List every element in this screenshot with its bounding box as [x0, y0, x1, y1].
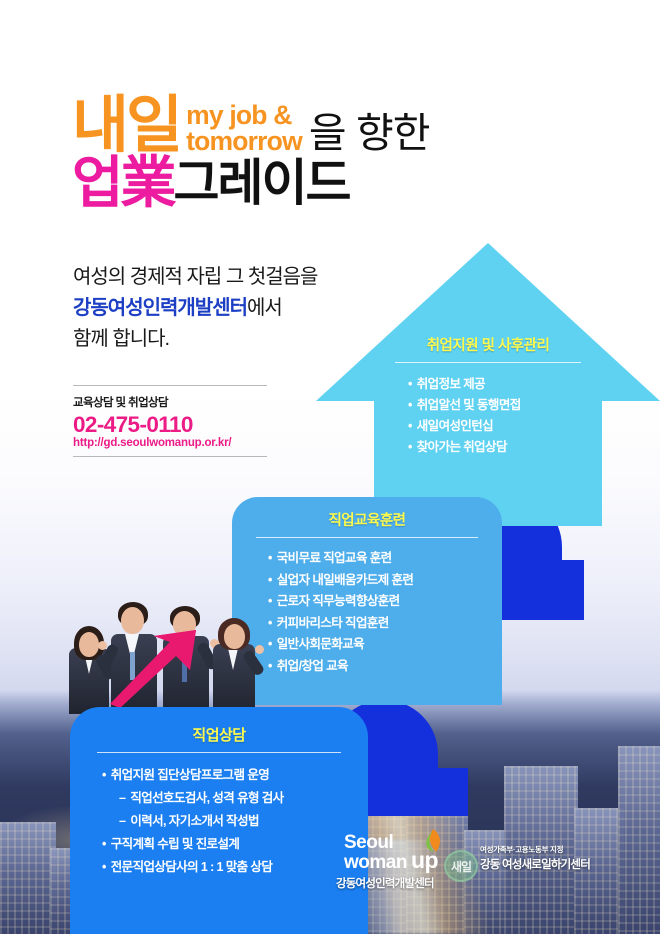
- person-hand: [255, 645, 264, 654]
- panel-divider: [256, 537, 478, 538]
- list-item-label: 커피바리스타 직업훈련: [277, 613, 389, 635]
- list-item: •구직계획 수립 및 진로설계: [102, 833, 368, 856]
- list-item-label: 취업/창업 교육: [277, 656, 348, 678]
- list-item: •커피바리스타 직업훈련: [268, 613, 502, 635]
- bullet-icon: •: [268, 634, 272, 656]
- contact-divider-bottom: [73, 456, 267, 457]
- list-item-label: 근로자 직무능력향상훈련: [277, 591, 400, 613]
- subtitle-center-name: 강동여성인력개발센터: [73, 297, 247, 319]
- list-item: •국비무료 직업교육 훈련: [268, 548, 502, 570]
- accent-shape-bottom-tail: [420, 768, 468, 816]
- contact-website-url[interactable]: http://gd.seoulwomanup.or.kr/: [73, 437, 267, 449]
- contact-phone-number[interactable]: 02-475-0110: [73, 412, 267, 437]
- list-item-label: 실업자 내일배움카드제 훈련: [277, 570, 414, 592]
- bullet-icon: •: [102, 764, 106, 787]
- bullet-icon: •: [408, 395, 412, 416]
- headline-word-up-ko: 업: [72, 152, 121, 214]
- list-item-label: 이력서, 자기소개서 작성법: [130, 810, 259, 833]
- bullet-icon: •: [268, 591, 272, 613]
- list-item: •새일여성인턴십: [408, 416, 602, 437]
- list-item: •전문직업상담사의 1 : 1 맞춤 상담: [102, 856, 368, 879]
- bullet-icon: •: [268, 656, 272, 678]
- people-photo-group: [62, 578, 260, 714]
- list-item-label: 취업정보 제공: [417, 374, 485, 395]
- headline-row-one: 내일 my job & tomorrow 을 향한: [72, 84, 429, 156]
- logo-secondary-subtitle: 강동 여성새로일하기센터: [480, 856, 590, 872]
- list-sub-item: –직업선호도검사, 성격 유형 검사: [102, 787, 368, 810]
- subtitle-line-1: 여성의 경제적 자립 그 첫걸음을: [73, 262, 317, 293]
- logo-bar: Seoul woman up 강동여성인력개발센터 새일 여성가족부·고용노동부…: [336, 834, 656, 904]
- logo-primary-subtitle: 강동여성인력개발센터: [336, 875, 438, 891]
- bullet-icon: •: [102, 856, 106, 879]
- list-item: •취업알선 및 동행면접: [408, 395, 602, 416]
- headline-english-line-2: tomorrow: [186, 128, 302, 154]
- panel-divider: [395, 362, 581, 363]
- panel-list-employment-support: •취업정보 제공 •취업알선 및 동행면접 •새일여성인턴십 •찾아가는 취업상…: [408, 374, 602, 458]
- bullet-icon: •: [268, 570, 272, 592]
- bullet-icon: •: [102, 833, 106, 856]
- bullet-icon: •: [408, 416, 412, 437]
- list-sub-item: –이력서, 자기소개서 작성법: [102, 810, 368, 833]
- headline-particle: 을 향한: [309, 111, 430, 155]
- poster-canvas: 취업지원 및 사후관리 •취업정보 제공 •취업알선 및 동행면접 •새일여성인…: [0, 0, 660, 934]
- person-woman-right: [208, 612, 260, 714]
- list-item-label: 전문직업상담사의 1 : 1 맞춤 상담: [111, 856, 272, 879]
- headline-word-up-hanja: 業: [121, 152, 174, 214]
- headline-english-tagline: my job & tomorrow: [186, 102, 302, 154]
- bullet-icon: •: [408, 374, 412, 395]
- sub-bullet-icon: –: [119, 810, 125, 833]
- person-face: [224, 624, 245, 649]
- panel-list-vocational-training: •국비무료 직업교육 훈련 •실업자 내일배움카드제 훈련 •근로자 직무능력향…: [268, 548, 502, 677]
- list-item: •취업지원 집단상담프로그램 운영: [102, 764, 368, 787]
- logo-brand-line-2: woman: [344, 853, 407, 872]
- subtitle-line-3: 함께 합니다.: [73, 324, 317, 355]
- contact-block: 교육상담 및 취업상담 02-475-0110 http://gd.seoulw…: [73, 385, 267, 457]
- pink-arrow-prop: [110, 630, 212, 708]
- list-item-label: 직업선호도검사, 성격 유형 검사: [130, 787, 283, 810]
- headline-row-two: 업 業 그레이드: [72, 152, 429, 214]
- list-item-label: 국비무료 직업교육 훈련: [277, 548, 392, 570]
- list-item: •실업자 내일배움카드제 훈련: [268, 570, 502, 592]
- saeil-mark-icon: 새일: [444, 850, 478, 882]
- sub-bullet-icon: –: [119, 787, 125, 810]
- panel-title-career-counseling: 직업상담: [70, 707, 368, 745]
- list-item-label: 취업지원 집단상담프로그램 운영: [111, 764, 269, 787]
- headline-word-tomorrow-ko: 내일: [72, 96, 180, 156]
- panel-employment-support: 취업지원 및 사후관리 •취업정보 제공 •취업알선 및 동행면접 •새일여성인…: [374, 330, 602, 520]
- panel-vocational-training: 직업교육훈련 •국비무료 직업교육 훈련 •실업자 내일배움카드제 훈련 •근로…: [232, 497, 502, 705]
- panel-career-counseling: 직업상담 •취업지원 집단상담프로그램 운영 –직업선호도검사, 성격 유형 검…: [70, 707, 368, 934]
- list-item-label: 찾아가는 취업상담: [417, 437, 507, 458]
- subtitle-line-2-rest: 에서: [247, 297, 282, 319]
- list-item-label: 구직계획 수립 및 진로설계: [111, 833, 240, 856]
- subtitle-line-2: 강동여성인력개발센터에서: [73, 293, 317, 324]
- list-item-label: 새일여성인턴십: [417, 416, 493, 437]
- list-item: •취업/창업 교육: [268, 656, 502, 678]
- list-item: •근로자 직무능력향상훈련: [268, 591, 502, 613]
- bullet-icon: •: [268, 613, 272, 635]
- headline-word-grade: 그레이드: [174, 152, 350, 214]
- list-item-label: 일반사회문화교육: [277, 634, 364, 656]
- person-face: [79, 632, 99, 657]
- subtitle-block: 여성의 경제적 자립 그 첫걸음을 강동여성인력개발센터에서 함께 합니다.: [73, 262, 317, 355]
- logo-seoul-woman-up: Seoul woman up 강동여성인력개발센터: [336, 834, 438, 891]
- leaf-icon: [422, 828, 444, 854]
- contact-divider-top: [73, 385, 267, 386]
- headline-block: 내일 my job & tomorrow 을 향한 업 業 그레이드: [72, 84, 429, 214]
- bullet-icon: •: [408, 437, 412, 458]
- panel-divider: [97, 752, 341, 753]
- person-hand: [98, 641, 107, 650]
- list-item: •일반사회문화교육: [268, 634, 502, 656]
- panel-list-career-counseling: •취업지원 집단상담프로그램 운영 –직업선호도검사, 성격 유형 검사 –이력…: [102, 764, 368, 879]
- list-item-label: 취업알선 및 동행면접: [417, 395, 521, 416]
- logo-saeil-center: 새일 여성가족부·고용노동부 지정 강동 여성새로일하기센터: [480, 844, 590, 872]
- city-building: [0, 822, 56, 934]
- accent-shape-middle-tail: [540, 560, 584, 620]
- list-item: •찾아가는 취업상담: [408, 437, 602, 458]
- headline-english-line-1: my job &: [186, 102, 302, 128]
- contact-label: 교육상담 및 취업상담: [73, 394, 267, 410]
- bullet-icon: •: [268, 548, 272, 570]
- logo-designation-text: 여성가족부·고용노동부 지정: [480, 844, 590, 855]
- panel-title-vocational-training: 직업교육훈련: [232, 497, 502, 530]
- list-item: •취업정보 제공: [408, 374, 602, 395]
- panel-title-employment-support: 취업지원 및 사후관리: [374, 330, 602, 355]
